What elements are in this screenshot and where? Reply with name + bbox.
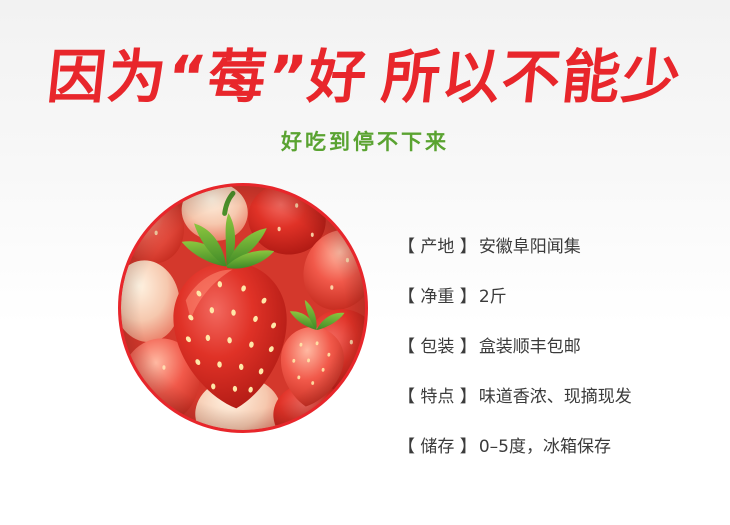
- list-item: 【 产地 】 安徽阜阳闻集: [398, 232, 708, 257]
- spec-label: 【 特点 】: [398, 382, 477, 407]
- product-banner: 因为“莓”好所以不能少 好吃到停不下来: [0, 0, 730, 525]
- spec-value: 安徽阜阳闻集: [479, 232, 581, 257]
- spec-value: 2斤: [479, 282, 507, 307]
- spec-value: 盒装顺丰包邮: [479, 332, 581, 357]
- strawberries-photo: [121, 186, 365, 430]
- spec-label: 【 净重 】: [398, 282, 477, 307]
- spec-label: 【 储存 】: [398, 432, 477, 457]
- spec-label: 【 产地 】: [398, 232, 477, 257]
- list-item: 【 净重 】 2斤: [398, 282, 708, 307]
- page-title: 因为“莓”好所以不能少: [0, 48, 730, 106]
- product-photo-frame: [118, 183, 368, 433]
- page-subtitle: 好吃到停不下来: [0, 126, 730, 156]
- spec-value: 0–5度，冰箱保存: [479, 432, 611, 457]
- list-item: 【 特点 】 味道香浓、现摘现发: [398, 382, 708, 407]
- list-item: 【 包装 】 盒装顺丰包邮: [398, 332, 708, 357]
- headline-part-b: 所以不能少: [379, 48, 685, 106]
- headline-part-a: 因为“莓”好: [45, 48, 371, 106]
- spec-value: 味道香浓、现摘现发: [479, 382, 632, 407]
- spec-label: 【 包装 】: [398, 332, 477, 357]
- list-item: 【 储存 】 0–5度，冰箱保存: [398, 432, 708, 457]
- spec-list: 【 产地 】 安徽阜阳闻集 【 净重 】 2斤 【 包装 】 盒装顺丰包邮 【 …: [398, 232, 708, 482]
